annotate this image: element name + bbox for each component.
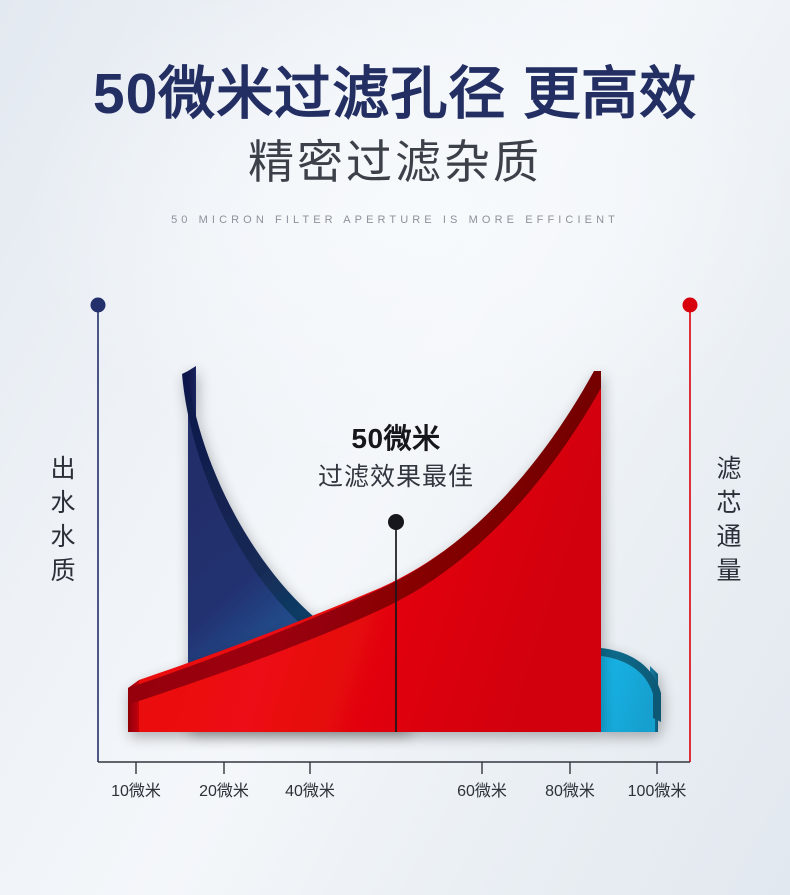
x-axis-labels: 10微米 20微米 40微米 60微米 80微米 100微米 [0, 782, 790, 812]
left-axis-label: 出 水 水 质 [46, 452, 80, 588]
x-axis [98, 762, 690, 774]
right-axis [683, 298, 698, 763]
left-axis-label-char-3: 水 [46, 520, 80, 554]
left-axis-label-char-2: 水 [46, 486, 80, 520]
page-subtitle: 精密过滤杂质 [0, 123, 790, 185]
optimum-callout-desc: 过滤效果最佳 [276, 456, 516, 493]
right-axis-label-char-3: 通 [712, 520, 746, 554]
x-axis-label-3: 40微米 [285, 782, 335, 802]
left-axis-endpoint-dot [91, 298, 106, 313]
left-axis [91, 298, 106, 763]
x-axis-label-6: 100微米 [628, 782, 687, 802]
optimum-callout: 50微米 过滤效果最佳 [276, 422, 516, 493]
optimum-marker-dot [388, 514, 404, 530]
page-subtitle-english: 50 MICRON FILTER APERTURE IS MORE EFFICI… [0, 185, 790, 226]
x-axis-label-5: 80微米 [545, 782, 595, 802]
poster-root: 50微米过滤孔径 更高效 精密过滤杂质 50 MICRON FILTER APE… [0, 0, 790, 895]
x-axis-label-4: 60微米 [457, 782, 507, 802]
header: 50微米过滤孔径 更高效 精密过滤杂质 50 MICRON FILTER APE… [0, 0, 790, 226]
right-axis-endpoint-dot [683, 298, 698, 313]
left-axis-label-char-1: 出 [46, 452, 80, 486]
right-axis-label: 滤 芯 通 量 [712, 452, 746, 588]
right-axis-label-char-2: 芯 [712, 486, 746, 520]
right-axis-label-char-1: 滤 [712, 452, 746, 486]
x-axis-label-2: 20微米 [199, 782, 249, 802]
optimum-callout-title: 50微米 [276, 422, 516, 456]
right-axis-label-char-4: 量 [712, 554, 746, 588]
left-axis-label-char-4: 质 [46, 554, 80, 588]
x-axis-ticks [136, 762, 657, 774]
chart-area: 出 水 水 质 滤 芯 通 量 50微米 过滤效果最佳 10微米 20微米 40… [0, 270, 790, 830]
series-flux-tail-face [601, 656, 655, 732]
chart-graphic [0, 270, 790, 830]
page-title: 50微米过滤孔径 更高效 [0, 0, 790, 123]
series-flux-tail [601, 648, 661, 732]
x-axis-label-1: 10微米 [111, 782, 161, 802]
